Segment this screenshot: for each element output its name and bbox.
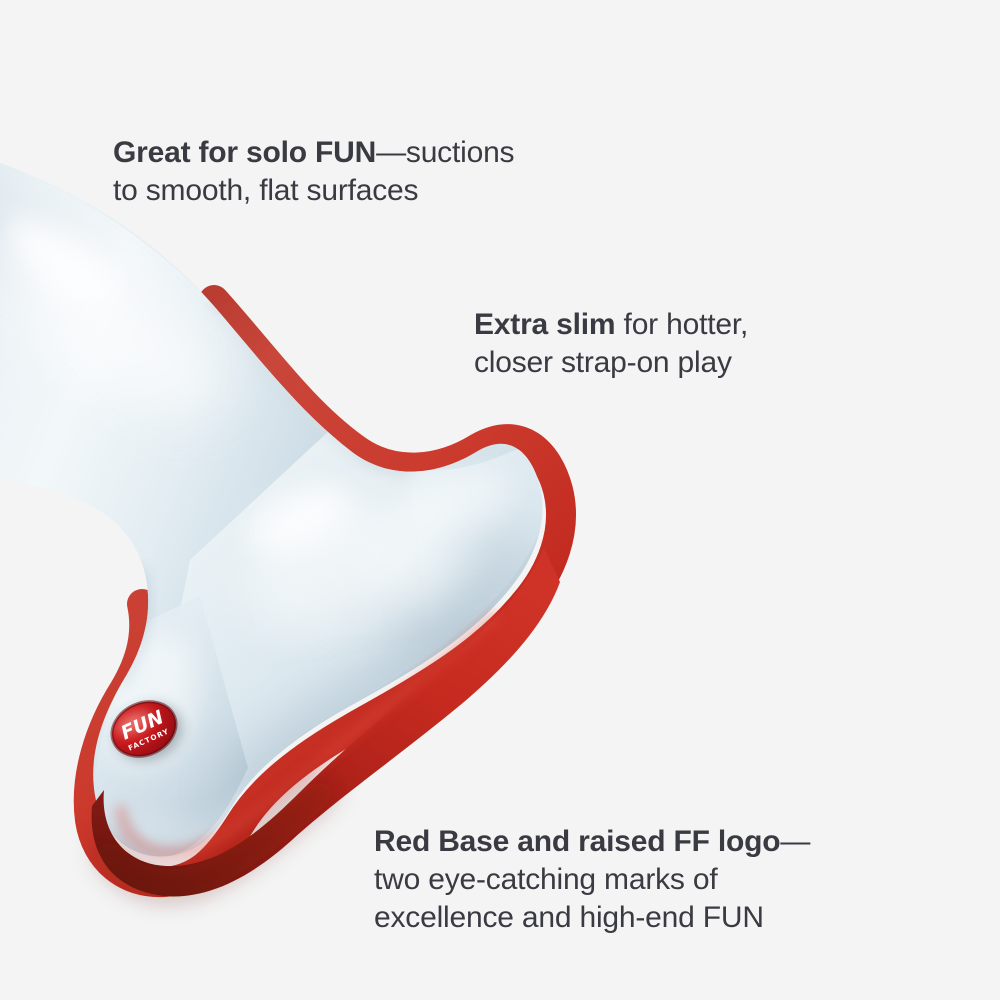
callout-red-base-logo: Red Base and raised FF logo— two eye-cat… [374,785,934,937]
callout-solo-fun-lead: Great for solo FUN [113,136,376,169]
callout-solo-fun: Great for solo FUN—suctions to smooth, f… [113,96,653,210]
callout-extra-slim: Extra slim for hotter, closer strap-on p… [474,268,874,382]
callout-extra-slim-lead: Extra slim [474,308,615,341]
marketing-image-canvas: FUN FACTORY Great for solo FUN—suctions … [0,0,1000,1000]
callout-red-base-logo-lead: Red Base and raised FF logo [374,825,780,858]
